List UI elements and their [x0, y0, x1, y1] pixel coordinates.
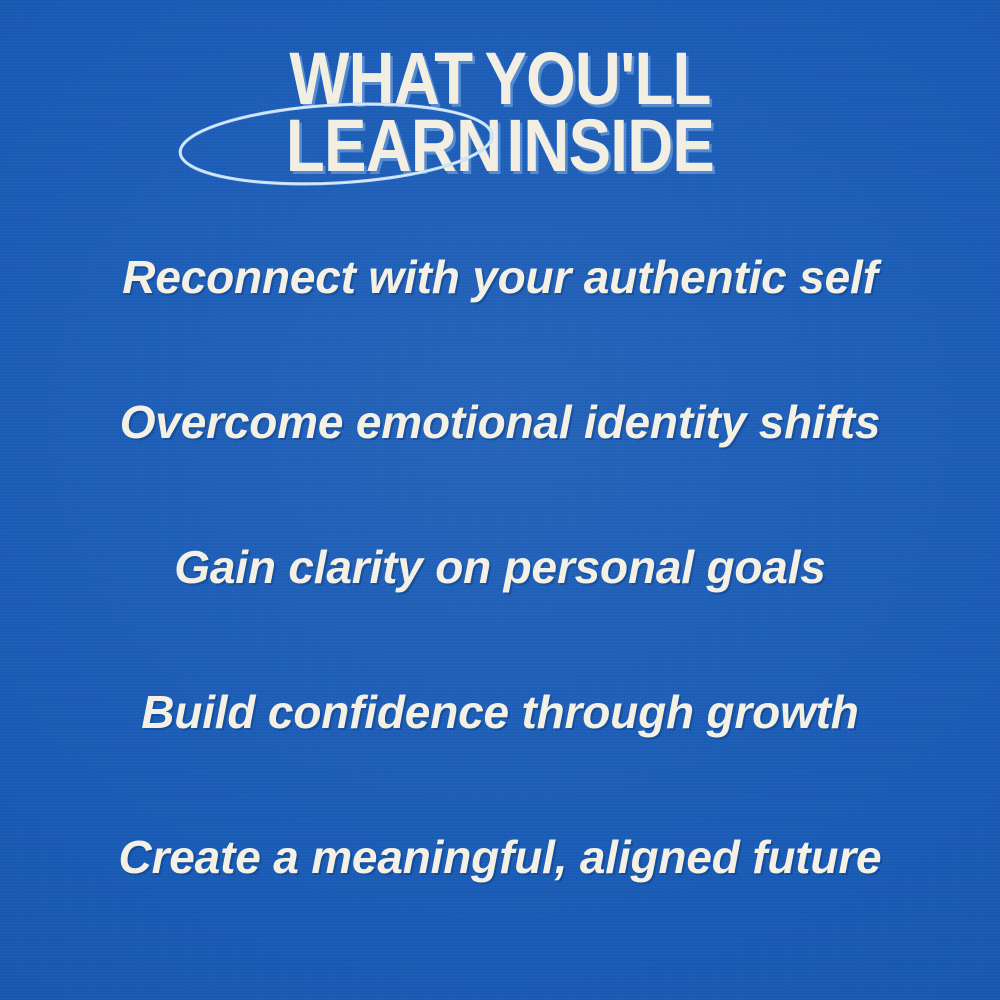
headline-line-2: LEARNINSIDE: [70, 113, 930, 178]
headline-block: WHATYOU'LL LEARNINSIDE: [0, 46, 1000, 178]
headline-word-inside: INSIDE: [506, 104, 714, 187]
benefit-item-4: Build confidence through growth: [0, 678, 1000, 823]
benefit-item-1: Reconnect with your authentic self: [0, 243, 1000, 388]
headline-word-learn: LEARN: [286, 104, 501, 187]
headline-line-1: WHATYOU'LL: [70, 46, 930, 111]
benefit-item-5: Create a meaningful, aligned future: [0, 823, 1000, 968]
benefit-item-2: Overcome emotional identity shifts: [0, 388, 1000, 533]
benefit-item-3: Gain clarity on personal goals: [0, 533, 1000, 678]
poster-canvas: WHATYOU'LL LEARNINSIDE Reconnect with yo…: [0, 0, 1000, 1000]
benefit-list: Reconnect with your authentic self Overc…: [0, 243, 1000, 968]
